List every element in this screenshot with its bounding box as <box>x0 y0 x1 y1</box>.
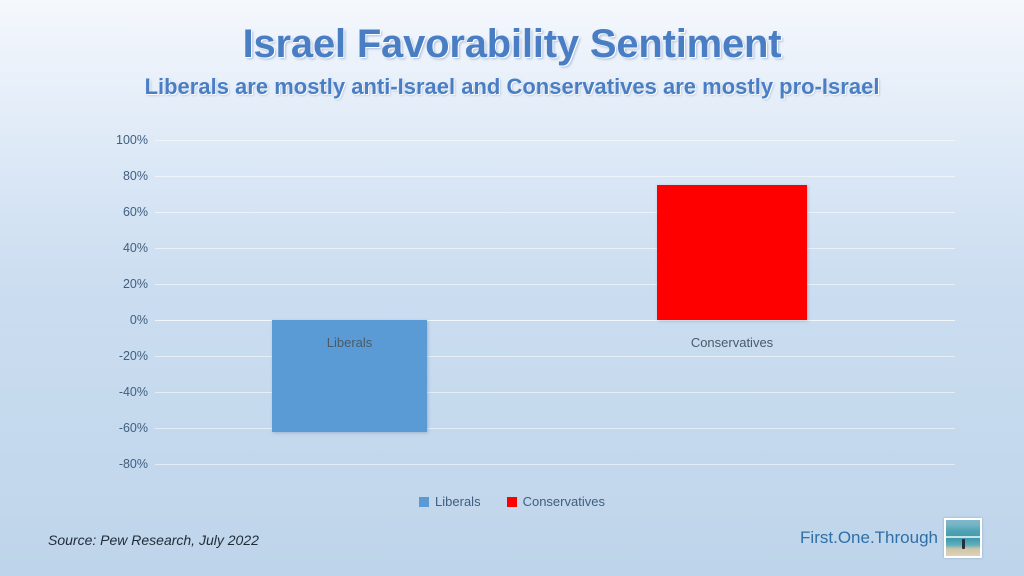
page-subtitle: Liberals are mostly anti-Israel and Cons… <box>0 74 1024 99</box>
gridline-100 <box>155 140 955 141</box>
y-tick-20: 20% <box>98 277 148 291</box>
legend-item-liberals[interactable]: Liberals <box>419 494 481 509</box>
bar-conservatives[interactable] <box>657 185 807 320</box>
gridline-neg80 <box>155 464 955 465</box>
y-tick-neg80: -80% <box>98 457 148 471</box>
title-block: Israel Favorability Sentiment Liberals a… <box>0 22 1024 99</box>
source-note: Source: Pew Research, July 2022 <box>48 532 259 548</box>
slide-canvas: Israel Favorability Sentiment Liberals a… <box>0 0 1024 576</box>
gridline-20 <box>155 284 955 285</box>
y-tick-neg60: -60% <box>98 421 148 435</box>
legend-item-conservatives[interactable]: Conservatives <box>507 494 605 509</box>
legend-swatch-liberals-icon <box>419 497 429 507</box>
chart-plot-area: 100% 80% 60% 40% 20% 0% -20% -40% -60% -… <box>0 140 1024 480</box>
y-tick-40: 40% <box>98 241 148 255</box>
y-tick-80: 80% <box>98 169 148 183</box>
gridline-80 <box>155 176 955 177</box>
person-silhouette-icon <box>962 539 965 549</box>
chart-legend: Liberals Conservatives <box>0 494 1024 509</box>
beach-photo-icon <box>946 520 980 556</box>
legend-label-conservatives: Conservatives <box>523 494 605 509</box>
bar-label-liberals: Liberals <box>272 335 427 350</box>
page-title: Israel Favorability Sentiment <box>0 22 1024 66</box>
y-tick-neg40: -40% <box>98 385 148 399</box>
y-tick-neg20: -20% <box>98 349 148 363</box>
y-axis: 100% 80% 60% 40% 20% 0% -20% -40% -60% -… <box>98 140 148 464</box>
y-tick-100: 100% <box>98 133 148 147</box>
legend-label-liberals: Liberals <box>435 494 481 509</box>
legend-swatch-conservatives-icon <box>507 497 517 507</box>
gridline-40 <box>155 248 955 249</box>
wave-line-icon <box>946 536 980 538</box>
brand-logo-image <box>944 518 982 558</box>
y-tick-0: 0% <box>98 313 148 327</box>
brand-name: First.One.Through <box>800 528 938 548</box>
bar-label-conservatives: Conservatives <box>657 335 807 350</box>
gridline-60 <box>155 212 955 213</box>
y-tick-60: 60% <box>98 205 148 219</box>
